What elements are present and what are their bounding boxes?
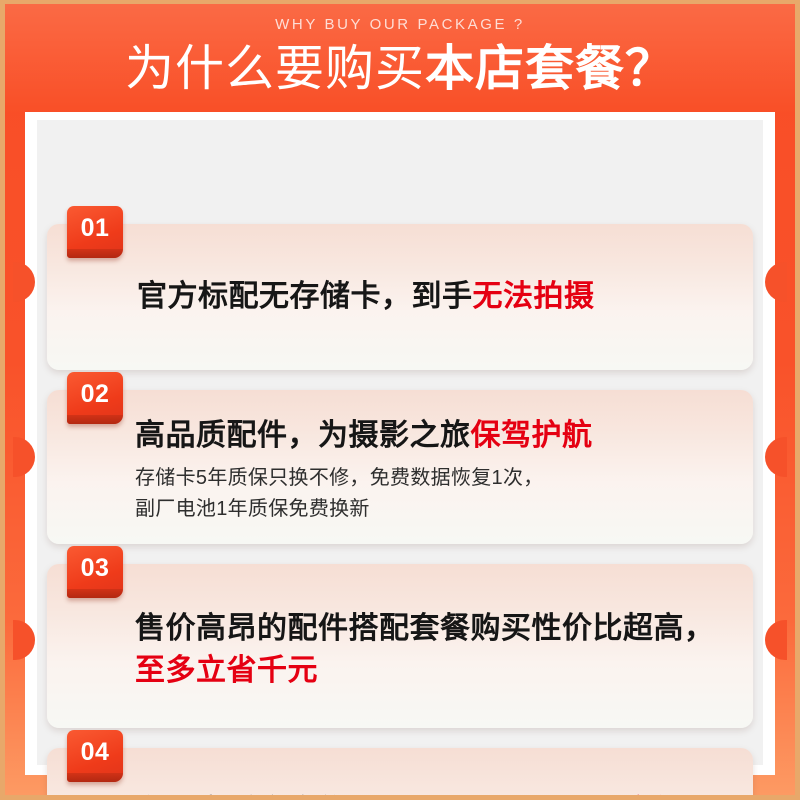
content-frame: 01 官方标配无存储卡，到手无法拍摄 02 高品质配件，为摄影之旅保驾护航 [13,112,787,787]
headline-thin-part: 为什么要购买 [125,42,425,96]
page-title: 为什么要购买本店套餐？ [5,38,795,100]
card-sub-line: 存储卡5年质保只换不修，免费数据恢复1次， [135,463,719,494]
card-content: 售价高昂的配件搭配套餐购买性价比超高，至多立省千元 [135,572,719,728]
card-lead-text: 高品质配件，为摄影之旅保驾护航 [135,415,719,457]
card-lead-text: 售价高昂的配件搭配套餐购买性价比超高，至多立省千元 [135,608,719,692]
card-lead-plain: 官方标配无存储卡，到手 [137,280,473,313]
promo-poster: WHY BUY OUR PACKAGE ? 为什么要购买本店套餐？ 01 [0,0,800,800]
card-content: 高品质配件，为摄影之旅保驾护航 存储卡5年质保只换不修，免费数据恢复1次， 副厂… [135,396,719,544]
card-lead-highlight: 保驾护航 [471,419,593,452]
eyebrow-text: WHY BUY OUR PACKAGE ? [5,14,795,36]
card-content: 官方标配无存储卡，到手无法拍摄 [137,224,719,370]
card-sub-text: 存储卡5年质保只换不修，免费数据恢复1次， 副厂电池1年质保免费换新 [135,463,719,525]
card-number-badge: 04 [67,730,123,782]
headline-strong-part: 本店套餐？ [425,42,675,96]
benefit-card: 04 套餐享受官方售后延保，省去数千元意外损失 [47,748,753,795]
benefit-card-list: 01 官方标配无存储卡，到手无法拍摄 02 高品质配件，为摄影之旅保驾护航 [47,224,753,765]
poster-header: WHY BUY OUR PACKAGE ? 为什么要购买本店套餐？ [5,4,795,112]
card-number-badge: 03 [67,546,123,598]
card-lead-text: 套餐享受官方售后延保，省去数千元意外损失 [135,791,719,795]
card-number-badge: 02 [67,372,123,424]
card-lead-text: 官方标配无存储卡，到手无法拍摄 [137,276,719,318]
benefit-card: 01 官方标配无存储卡，到手无法拍摄 [47,224,753,370]
card-lead-highlight: 至多立省千元 [135,654,318,687]
poster-background: WHY BUY OUR PACKAGE ? 为什么要购买本店套餐？ 01 [5,4,795,795]
card-lead-plain: 高品质配件，为摄影之旅 [135,419,471,452]
benefit-card: 03 售价高昂的配件搭配套餐购买性价比超高，至多立省千元 [47,564,753,728]
benefit-card: 02 高品质配件，为摄影之旅保驾护航 存储卡5年质保只换不修，免费数据恢复1次，… [47,390,753,544]
card-content: 套餐享受官方售后延保，省去数千元意外损失 [135,756,719,795]
card-lead-plain: 售价高昂的配件搭配套餐购买性价比超高， [135,612,715,645]
card-lead-highlight: 无法拍摄 [473,280,595,313]
card-number-badge: 01 [67,206,123,258]
card-sub-line: 副厂电池1年质保免费换新 [135,494,719,525]
